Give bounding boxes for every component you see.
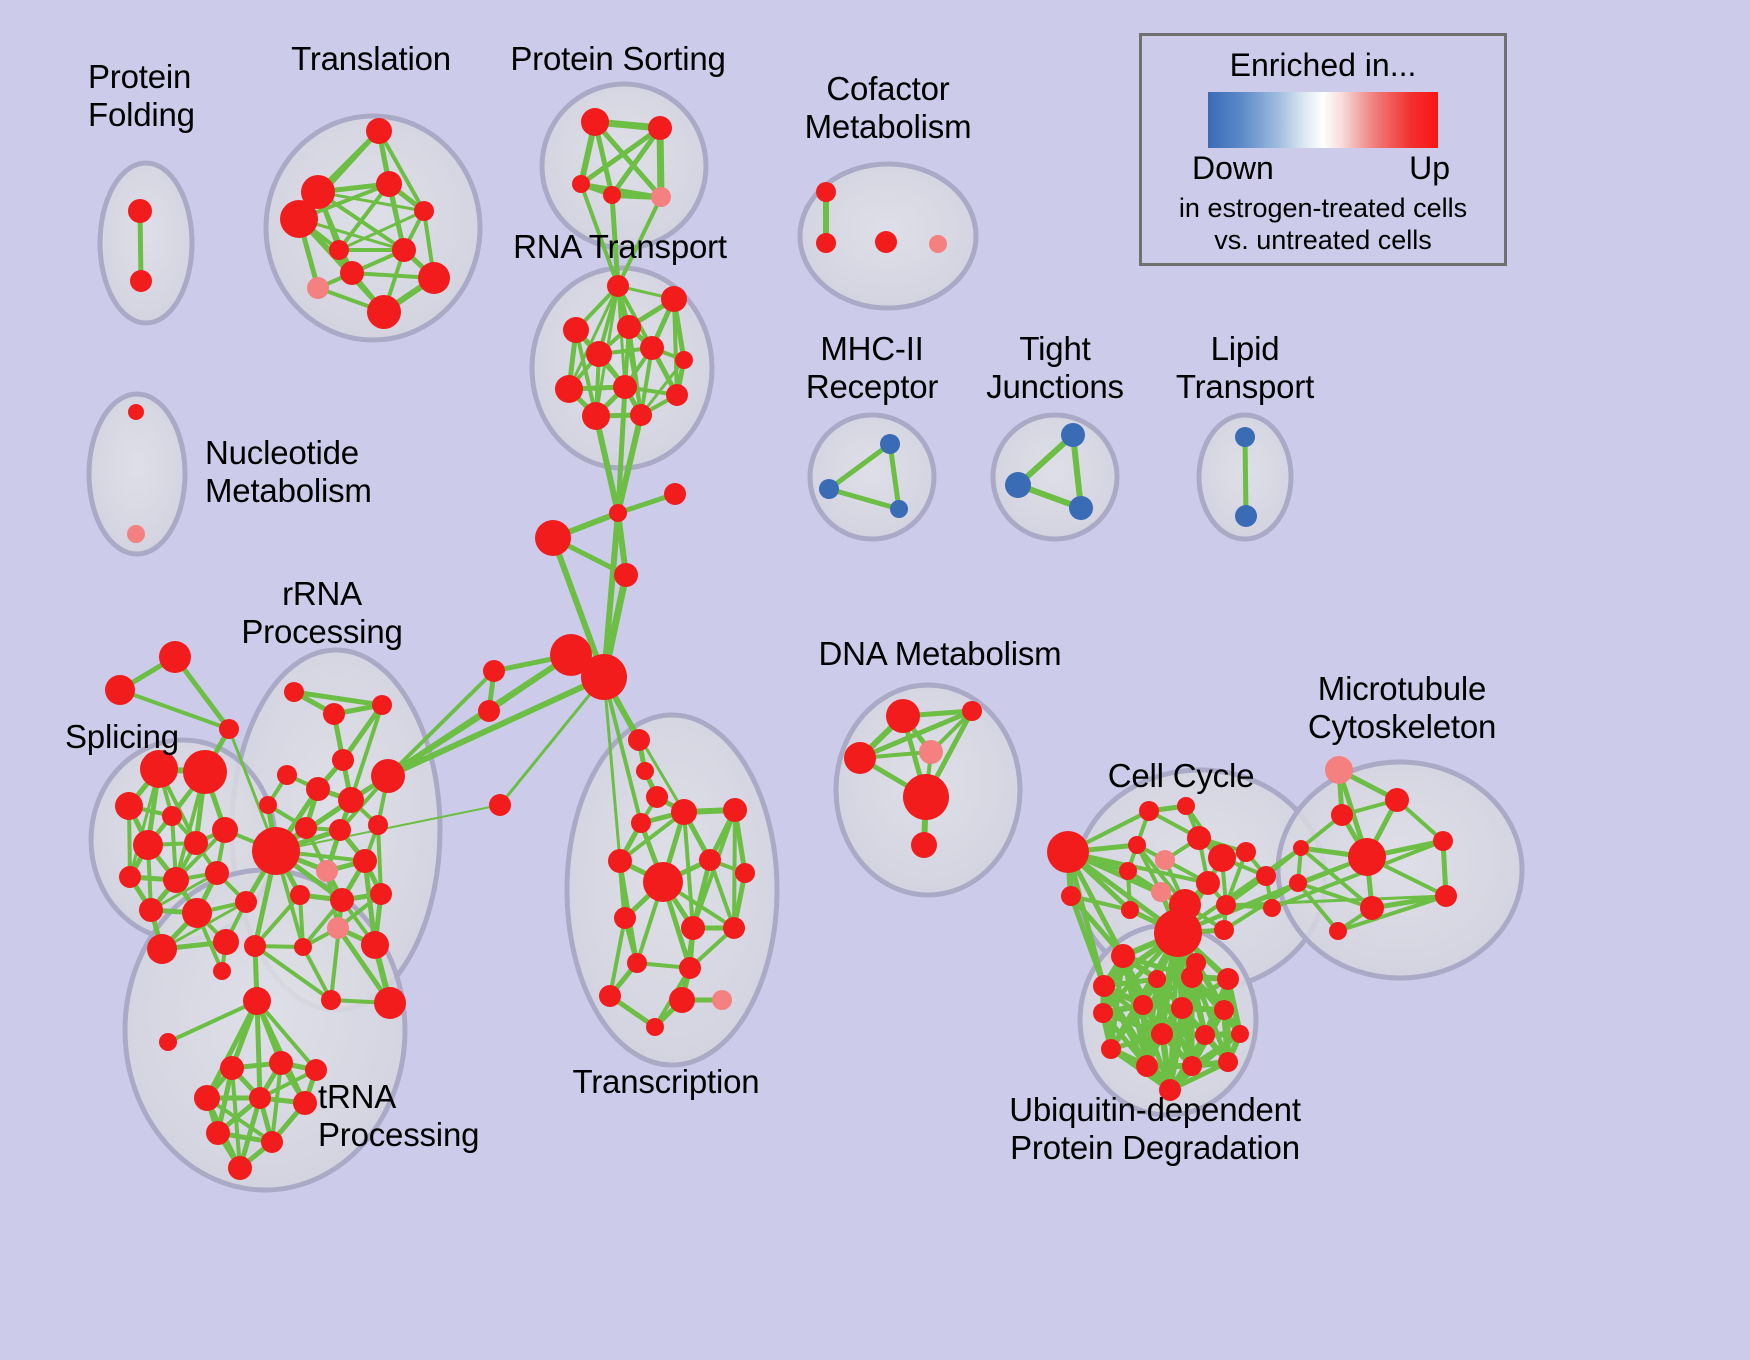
network-node[interactable] (139, 898, 163, 922)
network-node[interactable] (1195, 1025, 1215, 1045)
network-node[interactable] (614, 563, 638, 587)
network-node[interactable] (316, 860, 338, 882)
network-node[interactable] (609, 504, 627, 522)
network-node[interactable] (147, 934, 177, 964)
network-node[interactable] (608, 849, 632, 873)
network-node[interactable] (614, 907, 636, 929)
network-node[interactable] (886, 699, 920, 733)
network-node[interactable] (699, 849, 721, 871)
network-node[interactable] (212, 817, 238, 843)
network-node[interactable] (371, 759, 405, 793)
network-node[interactable] (1433, 831, 1453, 851)
network-node[interactable] (1128, 836, 1146, 854)
network-node[interactable] (329, 240, 349, 260)
network-node[interactable] (269, 1051, 293, 1075)
network-node[interactable] (646, 786, 668, 808)
network-node[interactable] (277, 765, 297, 785)
network-node[interactable] (675, 351, 693, 369)
network-node[interactable] (1325, 756, 1353, 784)
network-node[interactable] (586, 341, 612, 367)
network-node[interactable] (1263, 899, 1281, 917)
network-node[interactable] (628, 729, 650, 751)
network-node[interactable] (919, 740, 943, 764)
network-node[interactable] (1231, 1025, 1249, 1043)
network-node[interactable] (929, 235, 947, 253)
network-node[interactable] (327, 917, 349, 939)
network-node[interactable] (1331, 804, 1353, 826)
network-node[interactable] (880, 434, 900, 454)
network-node[interactable] (582, 402, 610, 430)
network-node[interactable] (323, 703, 345, 725)
network-node[interactable] (844, 742, 876, 774)
network-edge (257, 1001, 260, 1098)
network-node[interactable] (1155, 850, 1175, 870)
network-node[interactable] (372, 695, 392, 715)
network-node[interactable] (572, 175, 590, 193)
network-node[interactable] (1061, 886, 1081, 906)
network-node[interactable] (962, 701, 982, 721)
network-node[interactable] (478, 700, 500, 722)
network-node[interactable] (581, 108, 609, 136)
cluster-label-nucleotide-metabolism: Nucleotide Metabolism (205, 434, 372, 510)
cluster-label-dna-metabolism: DNA Metabolism (819, 635, 1062, 673)
network-node[interactable] (1214, 1000, 1234, 1020)
cluster-label-trna-processing: tRNA Processing (318, 1078, 479, 1154)
network-edge (1245, 437, 1246, 516)
network-node[interactable] (646, 1018, 664, 1036)
network-node[interactable] (115, 792, 143, 820)
network-node[interactable] (1235, 427, 1255, 447)
network-node[interactable] (1119, 862, 1137, 880)
network-node[interactable] (911, 832, 937, 858)
network-node[interactable] (321, 990, 341, 1010)
network-node[interactable] (163, 867, 189, 893)
enrichment-network-figure: Protein FoldingTranslationProtein Sortin… (0, 0, 1750, 1360)
network-node[interactable] (1093, 975, 1115, 997)
network-node[interactable] (1216, 895, 1236, 915)
network-node[interactable] (1111, 944, 1135, 968)
network-node[interactable] (631, 813, 651, 833)
network-node[interactable] (259, 796, 277, 814)
cluster-label-rna-transport: RNA Transport (513, 228, 727, 266)
network-node[interactable] (1181, 966, 1203, 988)
legend-subtitle-line2: vs. untreated cells (1142, 224, 1504, 256)
network-node[interactable] (627, 953, 647, 973)
network-node[interactable] (213, 962, 231, 980)
network-node[interactable] (105, 675, 135, 705)
network-node[interactable] (679, 957, 701, 979)
network-node[interactable] (1133, 995, 1153, 1015)
network-node[interactable] (1289, 874, 1307, 892)
network-node[interactable] (903, 774, 949, 820)
network-node[interactable] (816, 233, 836, 253)
legend-endpoints: Down Up (1192, 150, 1454, 190)
network-node[interactable] (1047, 831, 1089, 873)
network-node[interactable] (581, 654, 627, 700)
network-node[interactable] (648, 116, 672, 140)
network-node[interactable] (370, 883, 392, 905)
network-node[interactable] (735, 863, 755, 883)
network-node[interactable] (1329, 922, 1347, 940)
network-node[interactable] (367, 295, 401, 329)
network-node[interactable] (723, 917, 745, 939)
network-node[interactable] (661, 286, 687, 312)
network-node[interactable] (182, 898, 212, 928)
cluster-label-protein-sorting: Protein Sorting (510, 40, 725, 78)
color-scale-gradient-bar (1208, 92, 1438, 148)
legend-down-label: Down (1192, 150, 1274, 187)
network-node[interactable] (669, 987, 695, 1013)
network-node[interactable] (414, 201, 434, 221)
network-node[interactable] (353, 849, 377, 873)
network-node[interactable] (280, 200, 318, 238)
network-node[interactable] (1182, 1056, 1202, 1076)
network-node[interactable] (1348, 838, 1386, 876)
network-node[interactable] (489, 794, 511, 816)
network-node[interactable] (220, 1056, 244, 1080)
cluster-label-protein-folding: Protein Folding (88, 58, 195, 134)
network-node[interactable] (127, 525, 145, 543)
network-node[interactable] (244, 935, 266, 957)
network-node[interactable] (183, 750, 227, 794)
network-node[interactable] (1101, 1039, 1121, 1059)
network-node[interactable] (1061, 423, 1085, 447)
network-node[interactable] (599, 985, 621, 1007)
network-node[interactable] (681, 916, 705, 940)
cluster-label-cell-cycle: Cell Cycle (1108, 757, 1255, 795)
network-node[interactable] (1093, 1003, 1113, 1023)
network-node[interactable] (666, 384, 688, 406)
network-node[interactable] (340, 261, 364, 285)
network-node[interactable] (643, 862, 683, 902)
network-node[interactable] (613, 375, 637, 399)
network-node[interactable] (1218, 1052, 1238, 1072)
network-node[interactable] (235, 891, 257, 913)
network-node[interactable] (636, 762, 654, 780)
network-node[interactable] (1136, 1055, 1158, 1077)
cluster-label-tight-junctions: Tight Junctions (986, 330, 1124, 406)
network-node[interactable] (1151, 882, 1171, 902)
network-node[interactable] (295, 817, 317, 839)
cluster-label-microtubule-cytoskeleton: Microtubule Cytoskeleton (1308, 670, 1496, 746)
network-node[interactable] (205, 861, 229, 885)
network-node[interactable] (603, 186, 621, 204)
network-node[interactable] (243, 987, 271, 1015)
network-node[interactable] (418, 262, 450, 294)
network-node[interactable] (293, 1091, 317, 1115)
network-node[interactable] (723, 798, 747, 822)
cluster-ellipse-mhc-ii-receptor (810, 415, 934, 539)
network-node[interactable] (368, 815, 388, 835)
cluster-ellipse-protein-sorting (542, 84, 706, 248)
legend-subtitle: in estrogen-treated cells vs. untreated … (1142, 192, 1504, 256)
cluster-ellipse-protein-folding (100, 163, 192, 323)
network-node[interactable] (607, 275, 629, 297)
network-node[interactable] (130, 270, 152, 292)
network-node[interactable] (630, 404, 652, 426)
network-node[interactable] (535, 520, 571, 556)
network-node[interactable] (133, 830, 163, 860)
network-node[interactable] (1435, 885, 1457, 907)
network-node[interactable] (261, 1131, 283, 1153)
network-node[interactable] (1005, 472, 1031, 498)
network-node[interactable] (1385, 788, 1409, 812)
network-node[interactable] (555, 375, 583, 403)
network-node[interactable] (640, 336, 664, 360)
network-node[interactable] (1148, 970, 1166, 988)
cluster-label-cofactor-metabolism: Cofactor Metabolism (805, 70, 972, 146)
cluster-label-splicing: Splicing (65, 718, 179, 756)
network-node[interactable] (875, 231, 897, 253)
network-node[interactable] (213, 929, 239, 955)
network-node[interactable] (1171, 997, 1193, 1019)
network-node[interactable] (128, 199, 152, 223)
network-node[interactable] (184, 831, 208, 855)
network-node[interactable] (816, 182, 836, 202)
network-node[interactable] (194, 1085, 220, 1111)
cluster-label-rrna-processing: rRNA Processing (241, 575, 402, 651)
network-node[interactable] (563, 317, 589, 343)
network-node[interactable] (1236, 842, 1256, 862)
network-node[interactable] (1187, 826, 1211, 850)
network-node[interactable] (1196, 871, 1220, 895)
network-node[interactable] (294, 938, 312, 956)
network-node[interactable] (376, 171, 402, 197)
network-node[interactable] (664, 483, 686, 505)
network-node[interactable] (1139, 801, 1159, 821)
network-node[interactable] (1235, 505, 1257, 527)
network-node[interactable] (159, 641, 191, 673)
network-node[interactable] (284, 682, 304, 702)
network-node[interactable] (1208, 844, 1236, 872)
legend-title: Enriched in... (1142, 47, 1504, 84)
cluster-label-mhc-ii-receptor: MHC-II Receptor (806, 330, 938, 406)
network-node[interactable] (1177, 797, 1195, 815)
network-node[interactable] (1360, 896, 1384, 920)
network-node[interactable] (1121, 901, 1139, 919)
network-node[interactable] (1214, 920, 1234, 940)
cluster-label-transcription: Transcription (573, 1063, 760, 1101)
network-node[interactable] (617, 315, 641, 339)
network-node[interactable] (1293, 840, 1309, 856)
network-node[interactable] (712, 990, 732, 1010)
network-node[interactable] (219, 719, 239, 739)
network-node[interactable] (671, 799, 697, 825)
network-node[interactable] (228, 1156, 252, 1180)
network-node[interactable] (1256, 866, 1276, 886)
network-node[interactable] (159, 1033, 177, 1051)
network-node[interactable] (361, 931, 389, 959)
network-node[interactable] (252, 827, 300, 875)
network-node[interactable] (651, 187, 671, 207)
network-node[interactable] (329, 819, 351, 841)
network-node[interactable] (374, 987, 406, 1019)
network-node[interactable] (392, 238, 416, 262)
network-node[interactable] (1069, 496, 1093, 520)
network-node[interactable] (366, 118, 392, 144)
cluster-label-ubiquitin-protein-degradation: Ubiquitin-dependent Protein Degradation (1009, 1091, 1301, 1167)
cluster-label-lipid-transport: Lipid Transport (1176, 330, 1314, 406)
network-node[interactable] (330, 888, 354, 912)
network-node[interactable] (1151, 1023, 1173, 1045)
network-node[interactable] (332, 749, 354, 771)
network-node[interactable] (890, 500, 908, 518)
network-node[interactable] (483, 660, 505, 682)
network-node[interactable] (249, 1087, 271, 1109)
cluster-label-translation: Translation (291, 40, 451, 78)
network-node[interactable] (162, 806, 182, 826)
legend-box: Enriched in... Down Up in estrogen-treat… (1139, 33, 1507, 266)
legend-subtitle-line1: in estrogen-treated cells (1142, 192, 1504, 224)
network-node[interactable] (1217, 968, 1239, 990)
network-node[interactable] (206, 1121, 230, 1145)
network-node[interactable] (290, 885, 310, 905)
network-node[interactable] (1154, 909, 1202, 957)
network-node[interactable] (338, 787, 364, 813)
network-node[interactable] (307, 277, 329, 299)
network-node[interactable] (306, 777, 330, 801)
network-node[interactable] (819, 479, 839, 499)
network-node[interactable] (119, 866, 141, 888)
network-node[interactable] (128, 404, 144, 420)
legend-up-label: Up (1409, 150, 1450, 187)
